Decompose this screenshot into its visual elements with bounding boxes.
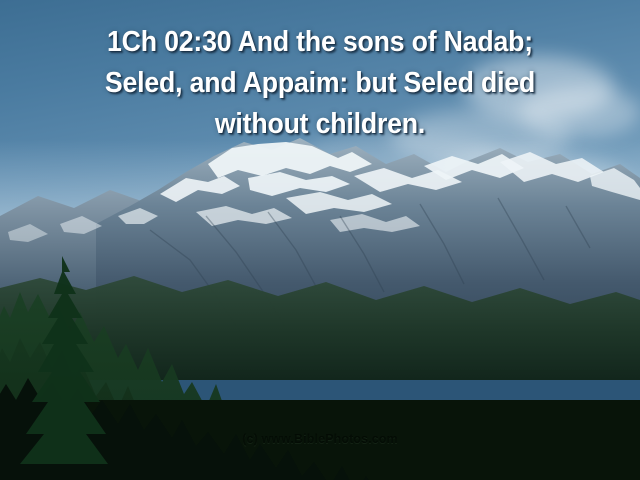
foreground-conifer-left — [0, 250, 200, 480]
bible-verse-image: 1Ch 02:30 And the sons of Nadab; Seled, … — [0, 0, 640, 480]
evergreen-forest — [0, 250, 640, 480]
